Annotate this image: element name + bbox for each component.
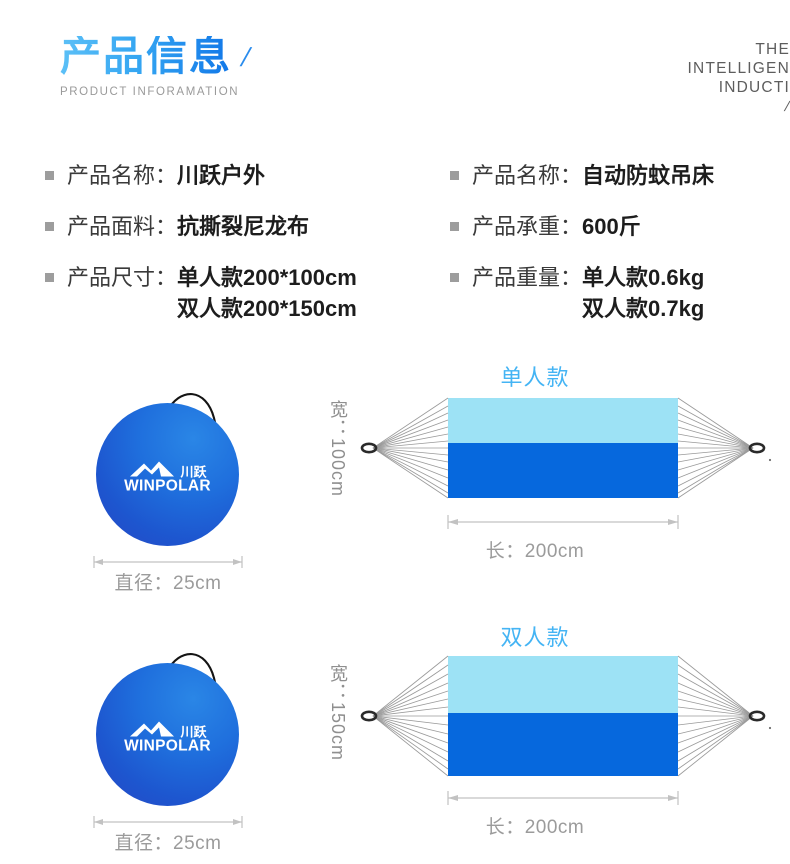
spec-value-line-2: 双人款0.7kg (582, 293, 704, 324)
spec-list: 产品名称： 川跃户外 产品面料： 抗撕裂尼龙布 产品尺寸： 单人款200*100… (0, 160, 790, 345)
header-tagline: THE INTELLIGEN INDUCTI / (590, 40, 790, 116)
storage-bag-figure: 川跃 WINPOLAR 直径：25cm (88, 370, 248, 600)
spec-value: 抗撕裂尼龙布 (177, 211, 309, 242)
length-dimension-line (448, 515, 678, 529)
hammock-length-caption: 长：200cm (325, 536, 745, 563)
spec-label: 产品名称： (472, 160, 582, 191)
hammock-illustration (343, 648, 773, 813)
logo-chinese-text: 川跃 (180, 725, 206, 738)
bullet-square-icon (45, 171, 54, 180)
header-tagline-line-1: THE (590, 40, 790, 59)
spec-row: 产品名称： 自动防蚊吊床 (450, 160, 790, 191)
spec-row: 产品尺寸： 单人款200*100cm 双人款200*150cm (45, 262, 455, 324)
hammock-length-caption: 长：200cm (325, 812, 745, 839)
bullet-square-icon (450, 273, 459, 282)
brand-logo: 川跃 WINPOLAR (112, 718, 224, 754)
spec-label: 产品名称： (67, 160, 177, 191)
figure-row-double: 川跃 WINPOLAR 直径：25cm 双人款 宽：150cm (0, 620, 790, 864)
diameter-caption: 直径：25cm (88, 828, 248, 855)
bullet-square-icon (45, 222, 54, 231)
logo-english-text: WINPOLAR (112, 478, 224, 494)
hammock-illustration (343, 388, 773, 538)
spec-value: 单人款200*100cm 双人款200*150cm (177, 262, 357, 324)
page-title: 产品信息 (60, 36, 232, 77)
header-tagline-line-3: INDUCTI (590, 78, 790, 97)
logo-english-text: WINPOLAR (112, 738, 224, 754)
title-block: 产品信息/ PRODUCT INFORAMATION (60, 36, 249, 98)
storage-ball: 川跃 WINPOLAR (96, 403, 239, 546)
mountain-icon (128, 459, 176, 478)
page-header: 产品信息/ PRODUCT INFORAMATION THE INTELLIGE… (0, 0, 790, 140)
bullet-square-icon (450, 171, 459, 180)
diameter-dimension-line (93, 556, 243, 568)
spec-value: 单人款0.6kg 双人款0.7kg (582, 262, 704, 324)
spec-column-left: 产品名称： 川跃户外 产品面料： 抗撕裂尼龙布 产品尺寸： 单人款200*100… (45, 160, 455, 344)
spec-label: 产品重量： (472, 262, 582, 293)
spec-value: 川跃户外 (177, 160, 265, 191)
spec-value-line-2: 双人款200*150cm (177, 293, 357, 324)
length-dimension-line (448, 791, 678, 805)
title-slash: / (238, 42, 254, 73)
logo-chinese-text: 川跃 (180, 465, 206, 478)
diameter-caption: 直径：25cm (88, 568, 248, 595)
brand-logo: 川跃 WINPOLAR (112, 458, 224, 494)
spec-column-right: 产品名称： 自动防蚊吊床 产品承重： 600斤 产品重量： 单人款0.6kg 双… (450, 160, 790, 344)
mountain-icon (128, 719, 176, 738)
spec-value: 600斤 (582, 211, 641, 242)
logo-top-row: 川跃 (112, 718, 224, 738)
storage-ball: 川跃 WINPOLAR (96, 663, 239, 806)
spec-row: 产品重量： 单人款0.6kg 双人款0.7kg (450, 262, 790, 324)
spec-row: 产品名称： 川跃户外 (45, 160, 455, 191)
figure-row-single: 川跃 WINPOLAR 直径：25cm 单人款 宽：100cm (0, 360, 790, 600)
spec-value: 自动防蚊吊床 (582, 160, 714, 191)
header-tagline-line-2: INTELLIGEN (590, 59, 790, 78)
storage-bag-figure: 川跃 WINPOLAR 直径：25cm (88, 630, 248, 860)
spec-value-line-1: 单人款200*100cm (177, 265, 357, 290)
spec-label: 产品面料： (67, 211, 177, 242)
bullet-square-icon (45, 273, 54, 282)
page-subtitle: PRODUCT INFORAMATION (60, 86, 249, 98)
spec-label: 产品承重： (472, 211, 582, 242)
logo-top-row: 川跃 (112, 458, 224, 478)
spec-label: 产品尺寸： (67, 262, 177, 293)
spec-row: 产品承重： 600斤 (450, 211, 790, 242)
bullet-square-icon (450, 222, 459, 231)
spec-value-line-1: 单人款0.6kg (582, 265, 704, 290)
spec-row: 产品面料： 抗撕裂尼龙布 (45, 211, 455, 242)
diameter-dimension-line (93, 816, 243, 828)
header-tagline-slash: / (782, 97, 790, 116)
